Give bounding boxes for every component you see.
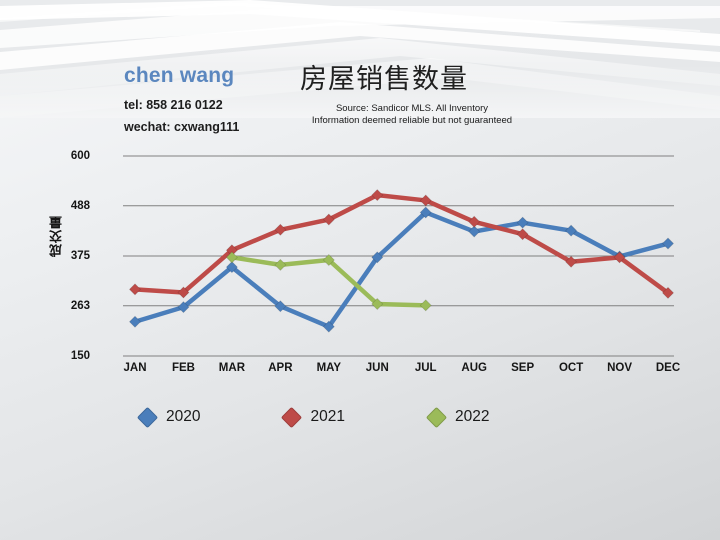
slide-canvas: chen wang tel: 858 216 0122 wechat: cxwa… bbox=[0, 0, 720, 540]
legend-diamond-icon bbox=[281, 406, 302, 427]
legend-label: 2021 bbox=[310, 408, 344, 426]
x-axis-tick-label: MAR bbox=[219, 362, 245, 374]
legend-label: 2022 bbox=[455, 408, 489, 426]
y-axis-ticks: 150263375488600 bbox=[44, 0, 90, 540]
data-point-2020 bbox=[663, 238, 674, 249]
data-point-2022 bbox=[275, 259, 286, 270]
series-line-2020 bbox=[135, 212, 668, 326]
legend-diamond-icon bbox=[426, 406, 447, 427]
data-point-2021 bbox=[130, 284, 141, 295]
x-axis-tick-label: APR bbox=[268, 362, 292, 374]
x-axis-tick-label: SEP bbox=[511, 362, 534, 374]
legend-item-2022[interactable]: 2022 bbox=[429, 408, 489, 426]
data-point-2022 bbox=[420, 300, 431, 311]
y-axis-tick-label: 488 bbox=[44, 200, 90, 212]
x-axis-tick-label: AUG bbox=[461, 362, 487, 374]
x-axis-tick-label: FEB bbox=[172, 362, 195, 374]
legend-diamond-icon bbox=[137, 406, 158, 427]
chart-legend: 202020212022 bbox=[140, 408, 489, 426]
legend-item-2021[interactable]: 2021 bbox=[284, 408, 344, 426]
legend-item-2020[interactable]: 2020 bbox=[140, 408, 200, 426]
plot-area bbox=[0, 0, 720, 540]
x-axis-tick-label: OCT bbox=[559, 362, 583, 374]
x-axis-tick-label: JAN bbox=[123, 362, 146, 374]
y-axis-tick-label: 600 bbox=[44, 150, 90, 162]
y-axis-tick-label: 150 bbox=[44, 350, 90, 362]
legend-label: 2020 bbox=[166, 408, 200, 426]
y-axis-tick-label: 263 bbox=[44, 300, 90, 312]
chart-canvas bbox=[0, 0, 720, 540]
x-axis-tick-label: DEC bbox=[656, 362, 680, 374]
x-axis-tick-label: JUL bbox=[415, 362, 437, 374]
y-axis-tick-label: 375 bbox=[44, 250, 90, 262]
data-point-2020 bbox=[130, 316, 141, 327]
data-point-2020 bbox=[517, 217, 528, 228]
x-axis-tick-label: NOV bbox=[607, 362, 632, 374]
x-axis-tick-label: MAY bbox=[317, 362, 342, 374]
x-axis-tick-label: JUN bbox=[366, 362, 389, 374]
